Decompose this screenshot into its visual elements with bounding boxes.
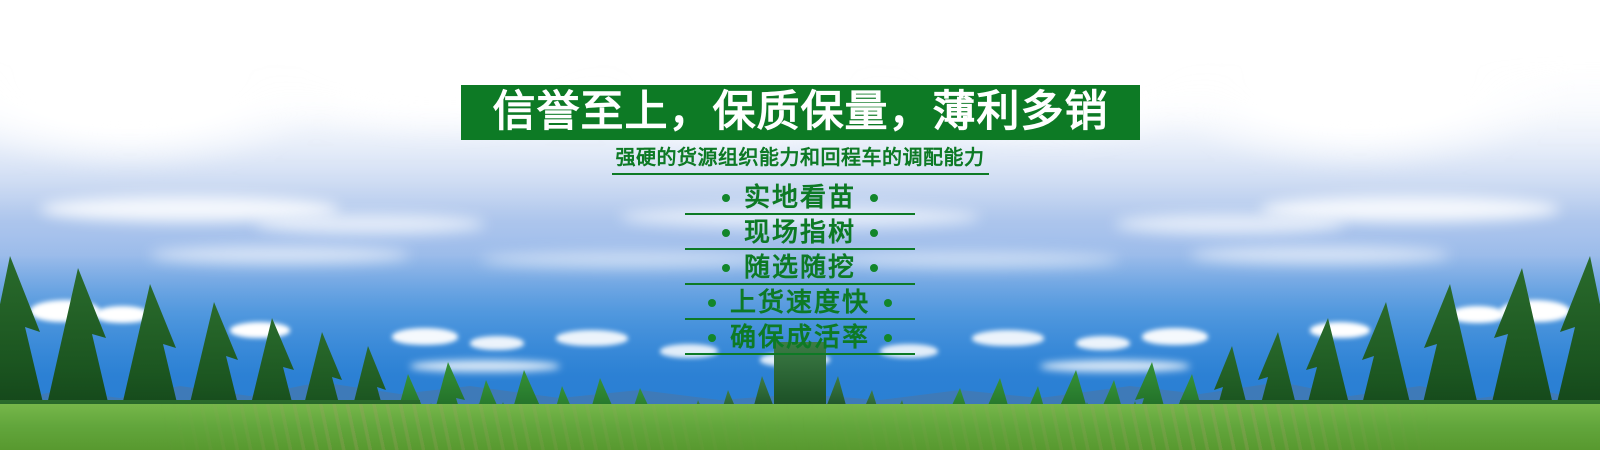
bullet-dot-icon	[722, 194, 730, 202]
feature-label: 随选随挖	[744, 255, 856, 281]
subtitle-text: 强硬的货源组织能力和回程车的调配能力	[612, 145, 989, 175]
feature-item: 实地看苗	[0, 180, 1600, 215]
bullet-dot-icon	[870, 194, 878, 202]
feature-item: 确保成活率	[0, 320, 1600, 355]
bullet-dot-icon	[870, 264, 878, 272]
bullet-dot-icon	[870, 229, 878, 237]
bullet-dot-icon	[708, 334, 716, 342]
feature-label: 现场指树	[744, 220, 856, 246]
headline-bar: 信誉至上，保质保量，薄利多销	[461, 85, 1140, 140]
feature-label: 上货速度快	[730, 290, 870, 316]
feature-list: 实地看苗 现场指树 随选随挖 上货速度快	[0, 180, 1600, 355]
feature-item: 上货速度快	[0, 285, 1600, 320]
feature-label: 确保成活率	[730, 325, 870, 351]
feature-divider	[685, 353, 915, 355]
feature-item: 随选随挖	[0, 250, 1600, 285]
banner-content: 信誉至上，保质保量，薄利多销 强硬的货源组织能力和回程车的调配能力 实地看苗 现…	[0, 0, 1600, 450]
bullet-dot-icon	[884, 299, 892, 307]
feature-item: 现场指树	[0, 215, 1600, 250]
bullet-dot-icon	[722, 264, 730, 272]
subtitle-wrap: 强硬的货源组织能力和回程车的调配能力	[0, 145, 1600, 175]
promo-banner: 信誉至上，保质保量，薄利多销 强硬的货源组织能力和回程车的调配能力 实地看苗 现…	[0, 0, 1600, 450]
bullet-dot-icon	[884, 334, 892, 342]
bullet-dot-icon	[722, 229, 730, 237]
bullet-dot-icon	[708, 299, 716, 307]
headline-text: 信誉至上，保质保量，薄利多销	[493, 91, 1109, 134]
feature-label: 实地看苗	[744, 185, 856, 211]
